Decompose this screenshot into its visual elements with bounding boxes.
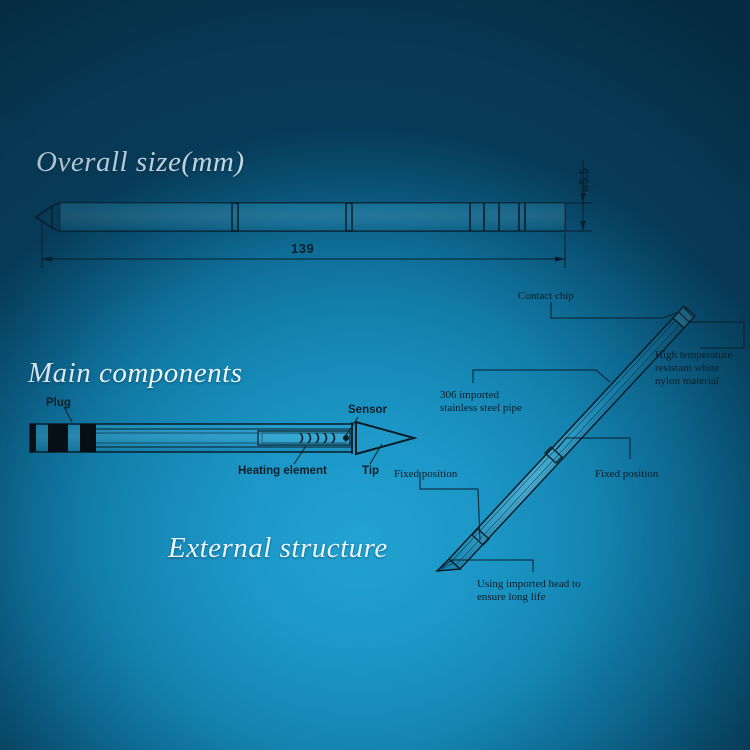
technical-drawing-layer [0,0,750,750]
label-contact-chip: Contact chip [518,290,574,303]
dimension-label-length: 139 [291,241,314,256]
overall-body-fill [60,203,565,231]
heating-cartridge [258,431,350,445]
label-nylon-material: High temperature resistant white nylon m… [655,349,732,388]
diagram-canvas: Overall size(mm) Main components Externa… [0,0,750,750]
soldering-tip-outline [352,422,414,454]
label-tip: Tip [362,465,379,477]
label-fixed-position-left: Fixed position [394,468,457,481]
label-steel-pipe: 306 imported stainless steel pipe [440,389,522,415]
label-fixed-position-right: Fixed position [595,468,658,481]
label-imported-head: Using imported head to ensure long life [477,578,581,604]
dimension-label-diameter: ⌀5.5 [577,168,591,192]
label-sensor: Sensor [348,404,387,416]
label-heating-element: Heating element [238,465,327,477]
label-plug: Plug [46,397,71,409]
